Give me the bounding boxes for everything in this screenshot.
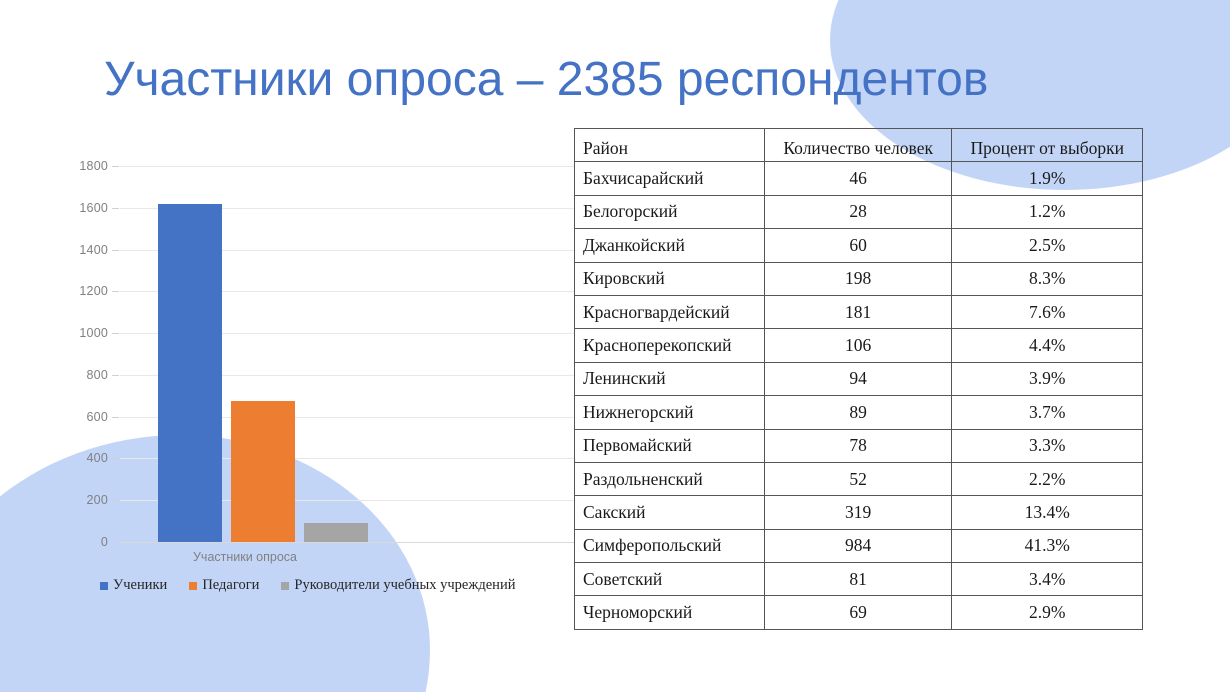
cell-percent: 2.2% (952, 462, 1143, 495)
chart-bar (304, 523, 368, 542)
table-row[interactable]: Ленинский943.9% (575, 362, 1143, 395)
cell-count: 89 (764, 396, 952, 429)
chart-y-tick-label: 1600 (0, 201, 108, 215)
table-row[interactable]: Первомайский783.3% (575, 429, 1143, 462)
cell-percent: 2.9% (952, 596, 1143, 629)
table-row[interactable]: Симферопольский98441.3% (575, 529, 1143, 562)
cell-count: 28 (764, 195, 952, 228)
table-row[interactable]: Нижнегорский893.7% (575, 396, 1143, 429)
cell-district: Сакский (575, 496, 765, 529)
legend-swatch-icon (189, 582, 197, 590)
chart-legend: УченикиПедагогиРуководители учебных учре… (100, 577, 515, 594)
legend-swatch-icon (100, 582, 108, 590)
cell-percent: 41.3% (952, 529, 1143, 562)
chart-category-label: Участники опроса (120, 550, 370, 564)
cell-count: 198 (764, 262, 952, 295)
cell-district: Советский (575, 563, 765, 596)
chart-gridline (120, 166, 575, 167)
header-percent: Процент от выборки (952, 129, 1143, 162)
cell-count: 60 (764, 229, 952, 262)
legend-item[interactable]: Ученики (100, 577, 167, 594)
cell-count: 181 (764, 295, 952, 328)
chart-y-tick-label: 0 (0, 535, 108, 549)
cell-count: 78 (764, 429, 952, 462)
table-row[interactable]: Черноморский692.9% (575, 596, 1143, 629)
cell-district: Раздольненский (575, 462, 765, 495)
table-row[interactable]: Белогорский281.2% (575, 195, 1143, 228)
cell-count: 319 (764, 496, 952, 529)
table-header-row: Район Количество человек Процент от выбо… (575, 129, 1143, 162)
table-row[interactable]: Раздольненский522.2% (575, 462, 1143, 495)
cell-count: 69 (764, 596, 952, 629)
cell-percent: 2.5% (952, 229, 1143, 262)
cell-percent: 8.3% (952, 262, 1143, 295)
chart-y-tick-label: 800 (0, 368, 108, 382)
table-row[interactable]: Бахчисарайский461.9% (575, 162, 1143, 195)
cell-district: Белогорский (575, 195, 765, 228)
header-district: Район (575, 129, 765, 162)
cell-count: 52 (764, 462, 952, 495)
chart-y-tick-mark (112, 333, 119, 334)
cell-district: Симферопольский (575, 529, 765, 562)
chart-y-tick-mark (112, 250, 119, 251)
legend-item-label: Ученики (113, 577, 167, 594)
chart-y-tick-label: 1200 (0, 284, 108, 298)
cell-district: Джанкойский (575, 229, 765, 262)
districts-table-wrapper: Район Количество человек Процент от выбо… (574, 128, 1143, 630)
legend-item[interactable]: Педагоги (189, 577, 259, 594)
cell-percent: 7.6% (952, 295, 1143, 328)
chart-y-tick-mark (112, 375, 119, 376)
chart-y-tick-label: 1000 (0, 326, 108, 340)
chart-bar (231, 401, 295, 542)
slide-title: Участники опроса – 2385 респондентов (104, 55, 988, 105)
chart-bar (158, 204, 222, 542)
chart-y-tick-mark (112, 291, 119, 292)
chart-y-tick-label: 1800 (0, 159, 108, 173)
cell-percent: 1.9% (952, 162, 1143, 195)
cell-district: Первомайский (575, 429, 765, 462)
chart-y-tick-mark (112, 500, 119, 501)
table-row[interactable]: Красноперекопский1064.4% (575, 329, 1143, 362)
cell-district: Кировский (575, 262, 765, 295)
cell-percent: 3.7% (952, 396, 1143, 429)
chart-y-tick-mark (112, 458, 119, 459)
chart-y-tick-label: 600 (0, 410, 108, 424)
chart-gridline (120, 542, 575, 543)
table-row[interactable]: Джанкойский602.5% (575, 229, 1143, 262)
cell-count: 106 (764, 329, 952, 362)
slide-canvas: Участники опроса – 2385 респондентов 180… (0, 0, 1230, 692)
districts-table: Район Количество человек Процент от выбо… (574, 128, 1143, 630)
bar-chart: 180016001400120010008006004002000 Участн… (0, 140, 580, 610)
table-row[interactable]: Советский813.4% (575, 563, 1143, 596)
table-head: Район Количество человек Процент от выбо… (575, 129, 1143, 162)
cell-percent: 3.4% (952, 563, 1143, 596)
chart-y-tick-label: 1400 (0, 243, 108, 257)
cell-count: 984 (764, 529, 952, 562)
cell-percent: 3.3% (952, 429, 1143, 462)
cell-district: Красногвардейский (575, 295, 765, 328)
chart-y-tick-mark (112, 208, 119, 209)
chart-y-tick-mark (112, 417, 119, 418)
chart-y-tick-mark (112, 166, 119, 167)
cell-district: Черноморский (575, 596, 765, 629)
cell-percent: 3.9% (952, 362, 1143, 395)
header-count: Количество человек (764, 129, 952, 162)
table-row[interactable]: Красногвардейский1817.6% (575, 295, 1143, 328)
cell-count: 46 (764, 162, 952, 195)
cell-count: 94 (764, 362, 952, 395)
cell-percent: 4.4% (952, 329, 1143, 362)
legend-item[interactable]: Руководители учебных учреждений (281, 577, 515, 594)
cell-district: Бахчисарайский (575, 162, 765, 195)
cell-percent: 1.2% (952, 195, 1143, 228)
cell-district: Ленинский (575, 362, 765, 395)
table-row[interactable]: Сакский31913.4% (575, 496, 1143, 529)
chart-y-tick-label: 200 (0, 493, 108, 507)
cell-percent: 13.4% (952, 496, 1143, 529)
cell-count: 81 (764, 563, 952, 596)
cell-district: Нижнегорский (575, 396, 765, 429)
table-body: Бахчисарайский461.9%Белогорский281.2%Джа… (575, 162, 1143, 629)
table-row[interactable]: Кировский1988.3% (575, 262, 1143, 295)
legend-item-label: Руководители учебных учреждений (294, 577, 515, 594)
legend-swatch-icon (281, 582, 289, 590)
cell-district: Красноперекопский (575, 329, 765, 362)
chart-y-tick-label: 400 (0, 451, 108, 465)
chart-plot-area (120, 166, 575, 542)
legend-item-label: Педагоги (202, 577, 259, 594)
